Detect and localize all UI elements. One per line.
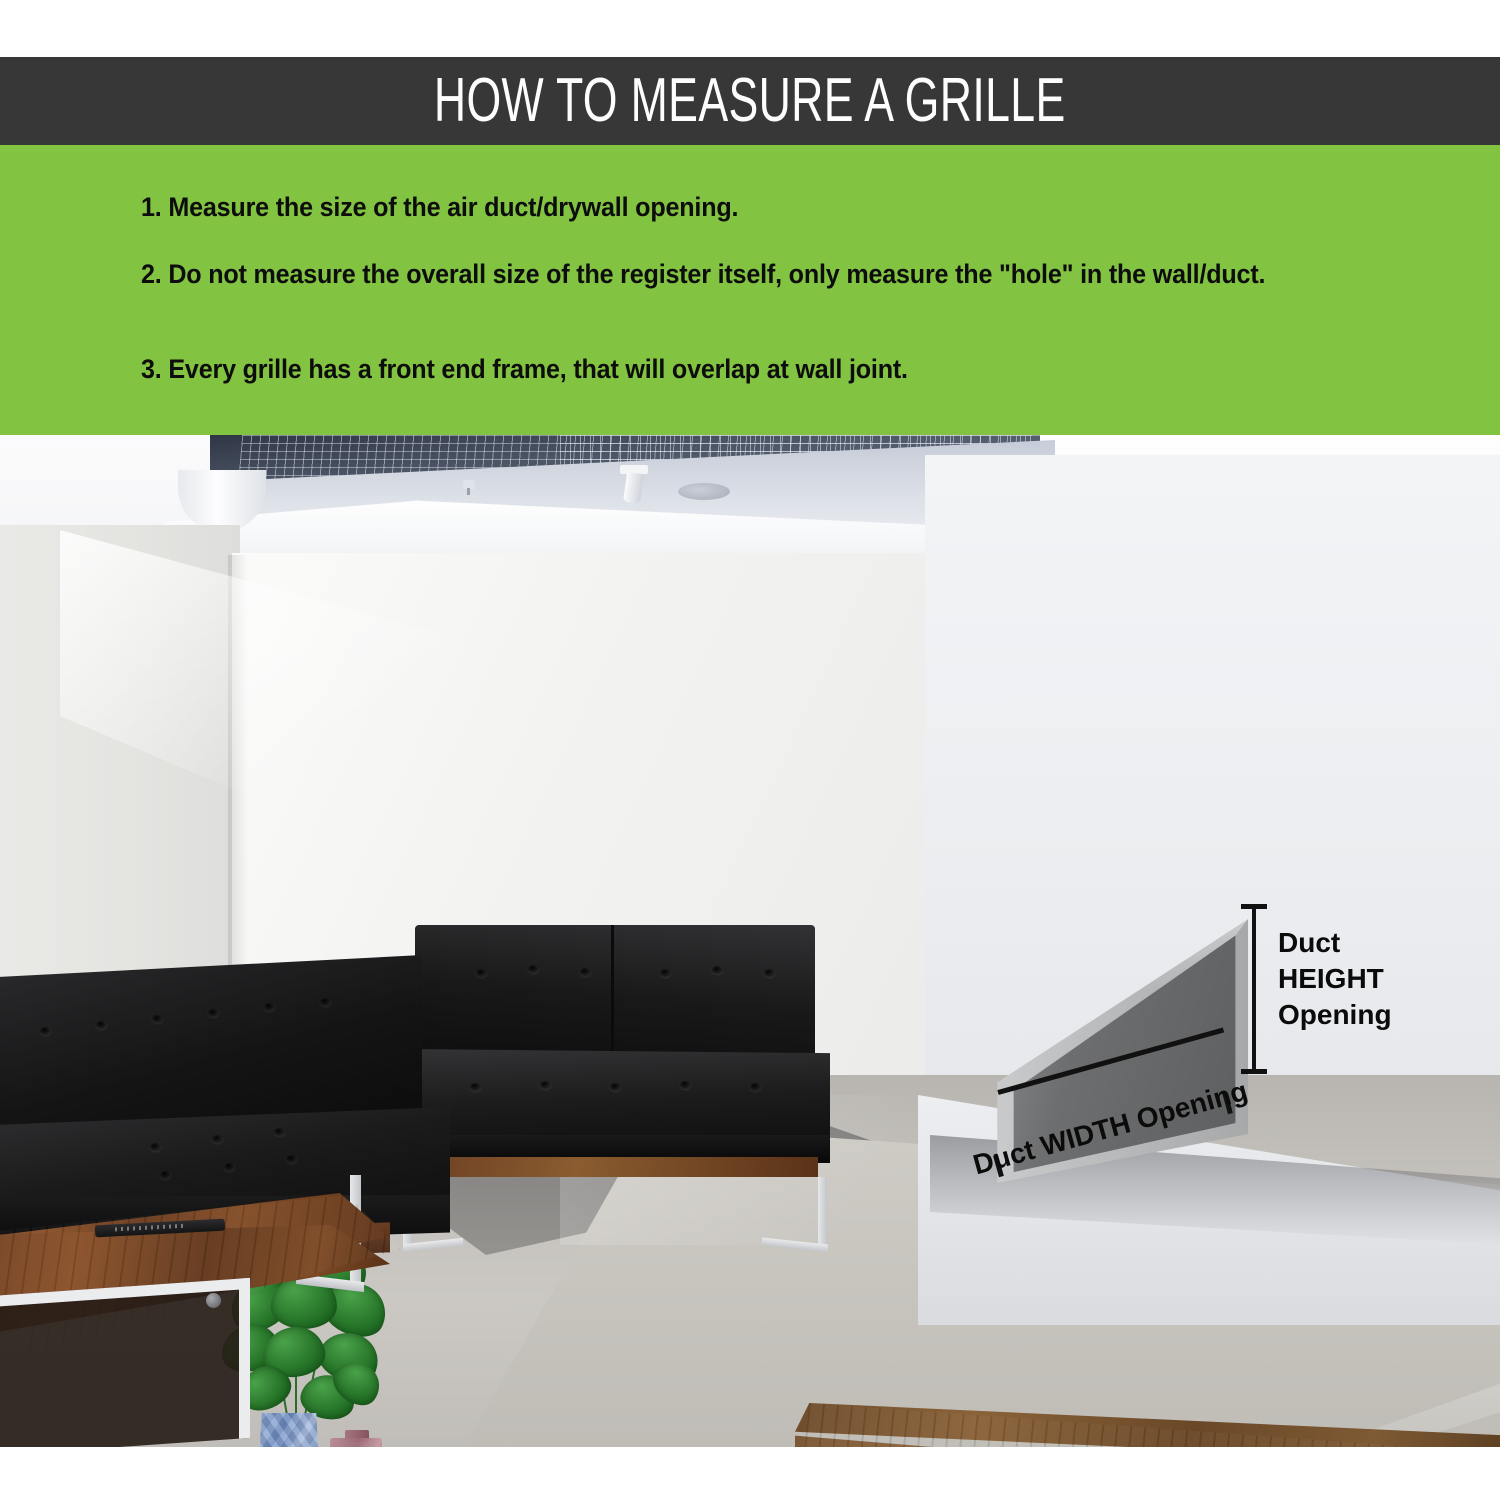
instructions-panel: 1. Measure the size of the air duct/dryw…: [0, 145, 1500, 435]
table-frame-screw: [206, 1293, 221, 1308]
height-dimension-cap-bottom: [1241, 1069, 1267, 1074]
sofa-right-backrest: [415, 925, 815, 1065]
instruction-item-3: 3. Every grille has a front end frame, t…: [141, 350, 1359, 388]
duct-height-label: Duct HEIGHT Opening: [1278, 925, 1428, 1033]
instruction-item-1: 1. Measure the size of the air duct/dryw…: [141, 188, 1359, 226]
pink-glass-vase: [330, 1438, 382, 1447]
header-bar: HOW TO MEASURE A GRILLE: [0, 57, 1500, 145]
blue-vase-facets: [258, 1413, 320, 1447]
recessed-downlight: [678, 483, 730, 500]
room-photo: Duct HEIGHT Opening Duct WIDTH Opening H…: [0, 435, 1500, 1447]
duct-diagram: Duct HEIGHT Opening Duct WIDTH Opening: [960, 875, 1380, 1235]
sofa-right-leg-right: [818, 1177, 827, 1249]
infographic-page: HOW TO MEASURE A GRILLE 1. Measure the s…: [0, 0, 1500, 1500]
page-title: HOW TO MEASURE A GRILLE: [434, 70, 1066, 132]
height-dimension-line: [1252, 906, 1256, 1074]
sprinkler-head: [463, 480, 475, 489]
sofa-right-seam: [611, 925, 614, 1065]
instruction-item-2: 2. Do not measure the overall size of th…: [141, 255, 1359, 293]
sofa-right-wood-rail: [418, 1157, 818, 1177]
